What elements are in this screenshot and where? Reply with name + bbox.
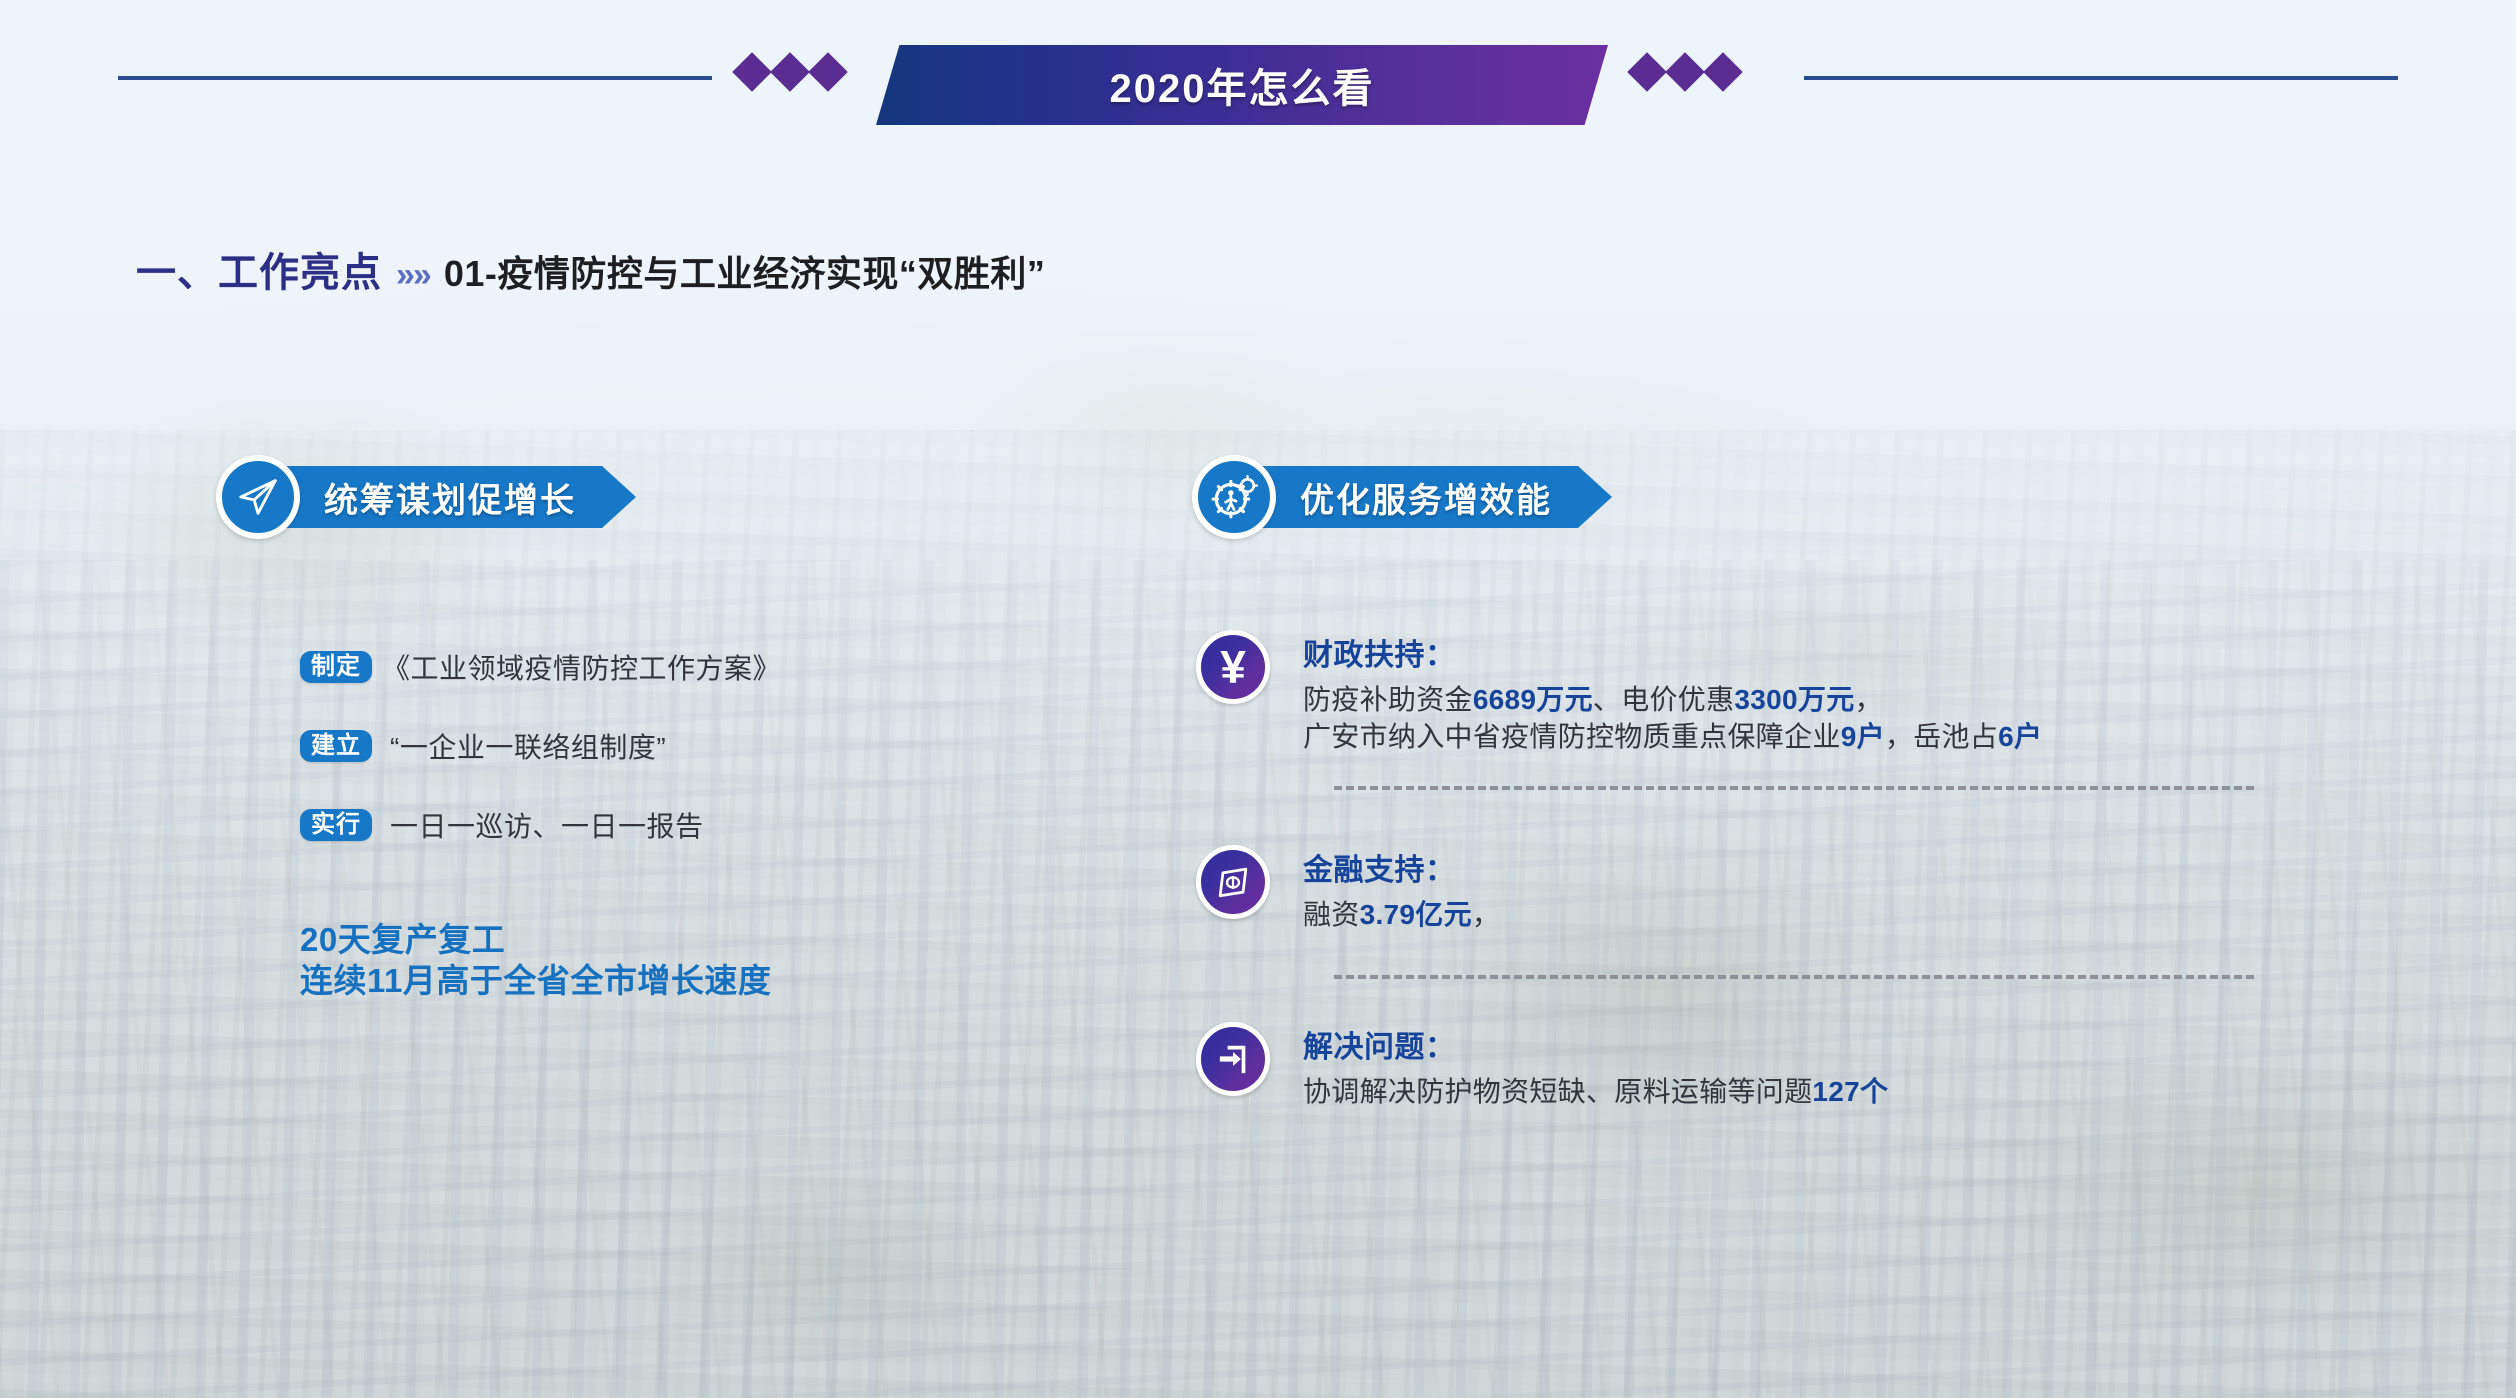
gear-person-icon [1192, 455, 1276, 539]
badge-right[interactable]: 优化服务增效能 [1192, 455, 1612, 539]
list-item: 制定 《工业领域疫情防控工作方案》 [300, 643, 781, 691]
title-banner: 2020年怎么看 [876, 45, 1608, 125]
list-item: 建立 “一企业一联络组制度” [300, 722, 781, 770]
right-item-financial-support: 金融支持： 融资3.79亿元， [1196, 845, 1500, 933]
list-item-tag: 建立 [300, 730, 372, 762]
paper-plane-icon [216, 455, 300, 539]
diamond-group-left [738, 58, 842, 86]
list-item-text: “一企业一联络组制度” [390, 726, 666, 766]
diamond-icon [770, 52, 810, 92]
right-item-line: 协调解决防护物资短缺、原料运输等问题127个 [1303, 1073, 1888, 1110]
header-rule-left [118, 76, 712, 80]
exit-door-icon [1196, 1022, 1270, 1096]
badge-left[interactable]: 统筹谋划促增长 [216, 455, 636, 539]
section-title-prefix: 一、工作亮点 [136, 240, 382, 298]
diamond-icon [1627, 52, 1667, 92]
right-item-line: 广安市纳入中省疫情防控物质重点保障企业9户，岳池占6户 [1303, 718, 2042, 755]
list-item-tag: 制定 [300, 651, 372, 683]
divider-1 [1334, 786, 2254, 790]
banner-title-text: 2020年怎么看 [1110, 56, 1375, 114]
left-column-highlight: 20天复产复工 连续11月高于全省全市增长速度 [300, 920, 771, 1002]
left-column-list: 制定 《工业领域疫情防控工作方案》 建立 “一企业一联络组制度” 实行 一日一巡… [300, 643, 781, 880]
right-item-heading: 财政扶持： [1303, 630, 2042, 674]
list-item-text: 一日一巡访、一日一报告 [390, 805, 704, 845]
header-banner-area: 2020年怎么看 [0, 0, 2516, 150]
diamond-icon [808, 52, 848, 92]
badge-left-bar: 统筹谋划促增长 [274, 466, 636, 528]
diamond-icon [1703, 52, 1743, 92]
yen-glyph: ¥ [1220, 644, 1246, 690]
list-item-text: 《工业领域疫情防控工作方案》 [382, 647, 781, 687]
badge-left-label: 统筹谋划促增长 [324, 473, 576, 522]
slide-canvas: 2020年怎么看 一、工作亮点 »» 01-疫情防控与工业经济实现“双胜利” 统… [0, 0, 2516, 1398]
diamond-group-right [1633, 58, 1737, 86]
right-item-fiscal-support: ¥ 财政扶持： 防疫补助资金6689万元、电价优惠3300万元， 广安市纳入中省… [1196, 630, 2042, 755]
right-item-line: 防疫补助资金6689万元、电价优惠3300万元， [1303, 681, 2042, 718]
yen-coin-icon: ¥ [1196, 630, 1270, 704]
divider-2 [1334, 975, 2254, 979]
chevron-right-icon: »» [396, 256, 430, 295]
badge-right-bar: 优化服务增效能 [1250, 466, 1612, 528]
highlight-line-1: 20天复产复工 [300, 920, 771, 961]
section-title: 一、工作亮点 »» 01-疫情防控与工业经济实现“双胜利” [136, 240, 1045, 298]
header-rule-right [1804, 76, 2398, 80]
highlight-line-2: 连续11月高于全省全市增长速度 [300, 961, 771, 1002]
banknote-icon [1196, 845, 1270, 919]
right-item-problem-solving: 解决问题： 协调解决防护物资短缺、原料运输等问题127个 [1196, 1022, 1888, 1110]
list-item: 实行 一日一巡访、一日一报告 [300, 801, 781, 849]
list-item-tag: 实行 [300, 809, 372, 841]
diamond-icon [1665, 52, 1705, 92]
diamond-icon [732, 52, 772, 92]
badge-right-label: 优化服务增效能 [1300, 473, 1552, 522]
right-item-heading: 金融支持： [1303, 845, 1500, 889]
section-title-text: 01-疫情防控与工业经济实现“双胜利” [444, 245, 1046, 297]
right-item-heading: 解决问题： [1303, 1022, 1888, 1066]
right-item-line: 融资3.79亿元， [1303, 896, 1500, 933]
